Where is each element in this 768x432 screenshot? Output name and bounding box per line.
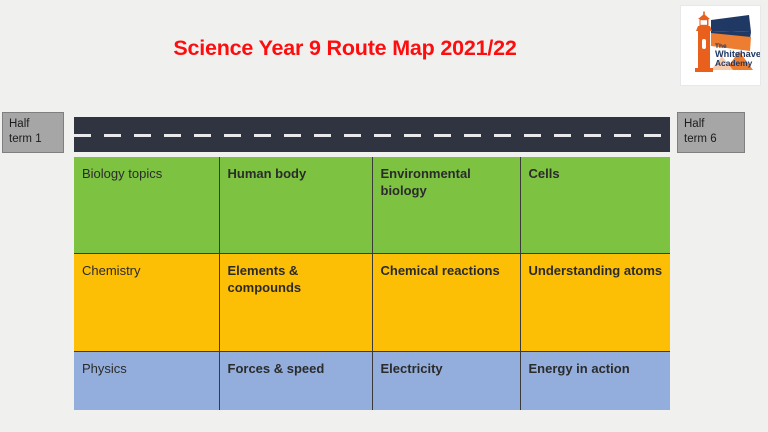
- subject-label-biology: Biology topics: [74, 157, 219, 254]
- table-row-biology: Biology topics Human body Environmental …: [74, 157, 670, 254]
- topic-chemistry-2: Chemical reactions: [372, 254, 520, 352]
- road-dashed-centre-line: [74, 134, 670, 137]
- logo-lighthouse-window: [702, 39, 706, 49]
- topic-biology-3: Cells: [520, 157, 670, 254]
- half-term-1-label: Half term 1: [2, 112, 64, 153]
- logo-lighthouse-finial: [703, 12, 705, 16]
- table-row-physics: Physics Forces & speed Electricity Energ…: [74, 352, 670, 410]
- topic-physics-2: Electricity: [372, 352, 520, 410]
- route-map-table: Biology topics Human body Environmental …: [74, 157, 670, 410]
- table-row-chemistry: Chemistry Elements & compounds Chemical …: [74, 254, 670, 352]
- topic-physics-1: Forces & speed: [219, 352, 372, 410]
- half-term-6-line1: Half: [684, 117, 739, 132]
- half-term-6-line2: term 6: [684, 132, 739, 147]
- logo-lighthouse-gallery: [696, 26, 712, 31]
- logo-artwork: The Whitehaven Academy: [681, 6, 760, 85]
- logo-lighthouse-tower: [698, 31, 710, 70]
- page-title: Science Year 9 Route Map 2021/22: [0, 36, 690, 61]
- logo-text-academy: Academy: [715, 58, 753, 68]
- topic-physics-3: Energy in action: [520, 352, 670, 410]
- half-term-1-line1: Half: [9, 117, 58, 132]
- topic-chemistry-3: Understanding atoms: [520, 254, 670, 352]
- topic-biology-1: Human body: [219, 157, 372, 254]
- half-term-1-line2: term 1: [9, 132, 58, 147]
- whitehaven-academy-logo: The Whitehaven Academy: [681, 6, 760, 85]
- route-road-bar: [74, 117, 670, 152]
- topic-biology-2: Environmental biology: [372, 157, 520, 254]
- logo-lighthouse-base: [695, 68, 713, 72]
- logo-lighthouse-light: [701, 20, 708, 25]
- topic-chemistry-1: Elements & compounds: [219, 254, 372, 352]
- subject-label-chemistry: Chemistry: [74, 254, 219, 352]
- half-term-6-label: Half term 6: [677, 112, 745, 153]
- subject-label-physics: Physics: [74, 352, 219, 410]
